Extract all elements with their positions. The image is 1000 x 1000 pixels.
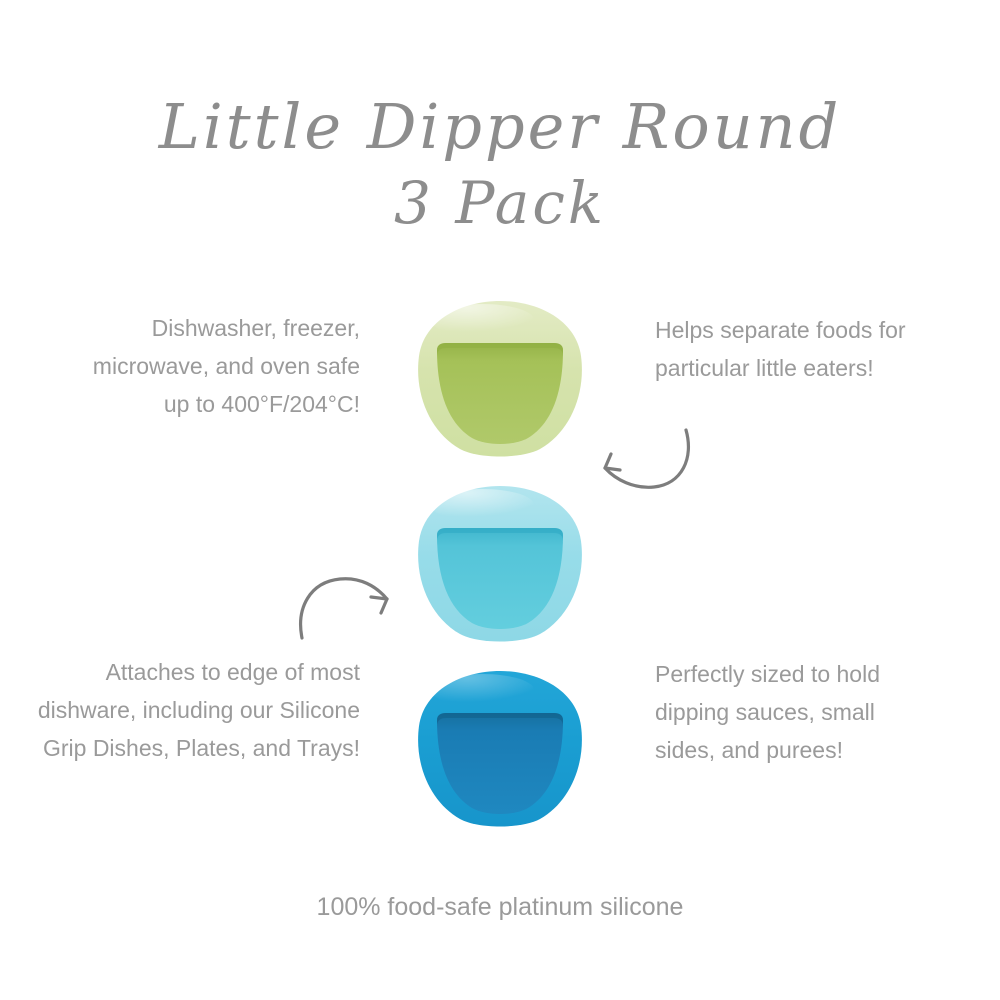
title-line-2: 3 Pack bbox=[0, 166, 1000, 240]
product-image-teal-bowl bbox=[410, 483, 590, 649]
footnote-text: 100% food-safe platinum silicone bbox=[0, 890, 1000, 924]
feature-text-top-right: Helps separate foods for particular litt… bbox=[655, 311, 935, 387]
product-image-green-bowl bbox=[410, 298, 590, 464]
bowl-lip-highlight bbox=[430, 674, 534, 706]
feature-text-bottom-right: Perfectly sized to hold dipping sauces, … bbox=[655, 655, 940, 769]
product-image-blue-bowl bbox=[410, 668, 590, 834]
bowl-lip-highlight bbox=[430, 489, 534, 521]
product-infographic: Little Dipper Round 3 Pack Dishwasher, f… bbox=[0, 0, 1000, 1000]
feature-text-top-left: Dishwasher, freezer, microwave, and oven… bbox=[70, 309, 360, 423]
bowl-lip-highlight bbox=[430, 304, 534, 336]
title-line-1: Little Dipper Round bbox=[0, 88, 1000, 166]
feature-text-bottom-left: Attaches to edge of most dishware, inclu… bbox=[35, 653, 360, 767]
arrow-pointing-to-green-bowl bbox=[578, 424, 698, 500]
arrow-pointing-to-teal-bowl bbox=[292, 566, 412, 644]
product-title: Little Dipper Round 3 Pack bbox=[0, 88, 1000, 240]
